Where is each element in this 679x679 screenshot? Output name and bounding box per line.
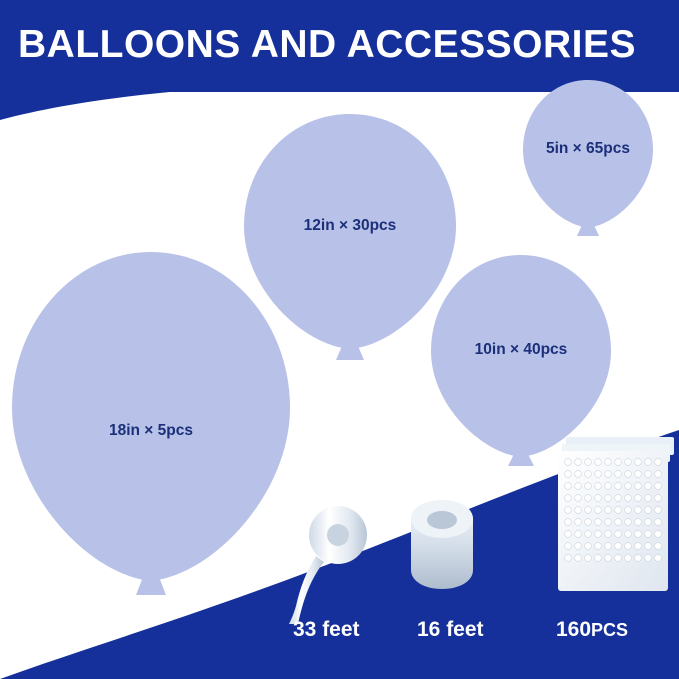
glue-dots-count: 160 [556,618,591,641]
glue-dots-icon [558,437,674,591]
glue-dots-unit: PCS [591,620,628,640]
glue-dots-label: 160PCS [556,618,628,642]
accessories-group [0,0,679,679]
product-image: BALLOONS AND ACCESSORIES 18in × 5pcs 12i… [0,0,679,679]
tape-roll-label: 16 feet [417,618,484,642]
tape-roll-icon [411,500,473,589]
ribbon-icon [289,506,367,624]
ribbon-label: 33 feet [293,618,360,642]
